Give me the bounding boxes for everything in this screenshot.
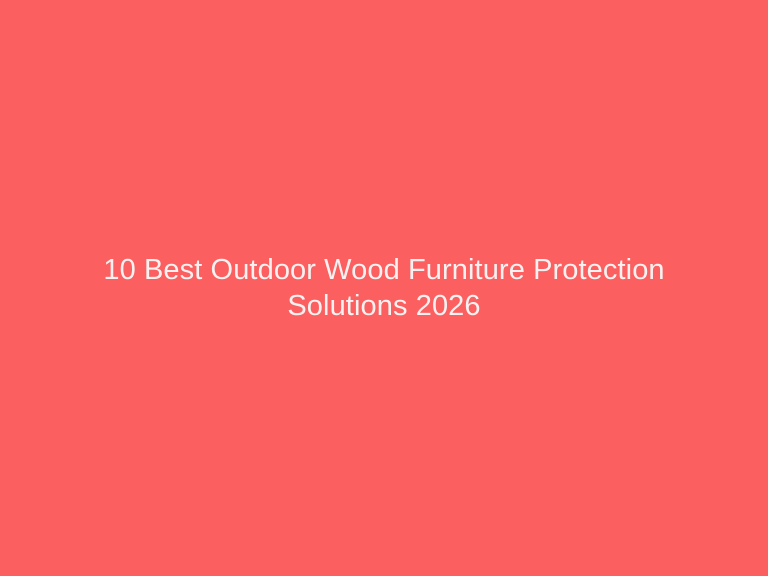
headline-block: 10 Best Outdoor Wood Furniture Protectio… bbox=[64, 252, 704, 324]
page-title: 10 Best Outdoor Wood Furniture Protectio… bbox=[64, 252, 704, 324]
article-placeholder-card: 10 Best Outdoor Wood Furniture Protectio… bbox=[0, 0, 768, 576]
